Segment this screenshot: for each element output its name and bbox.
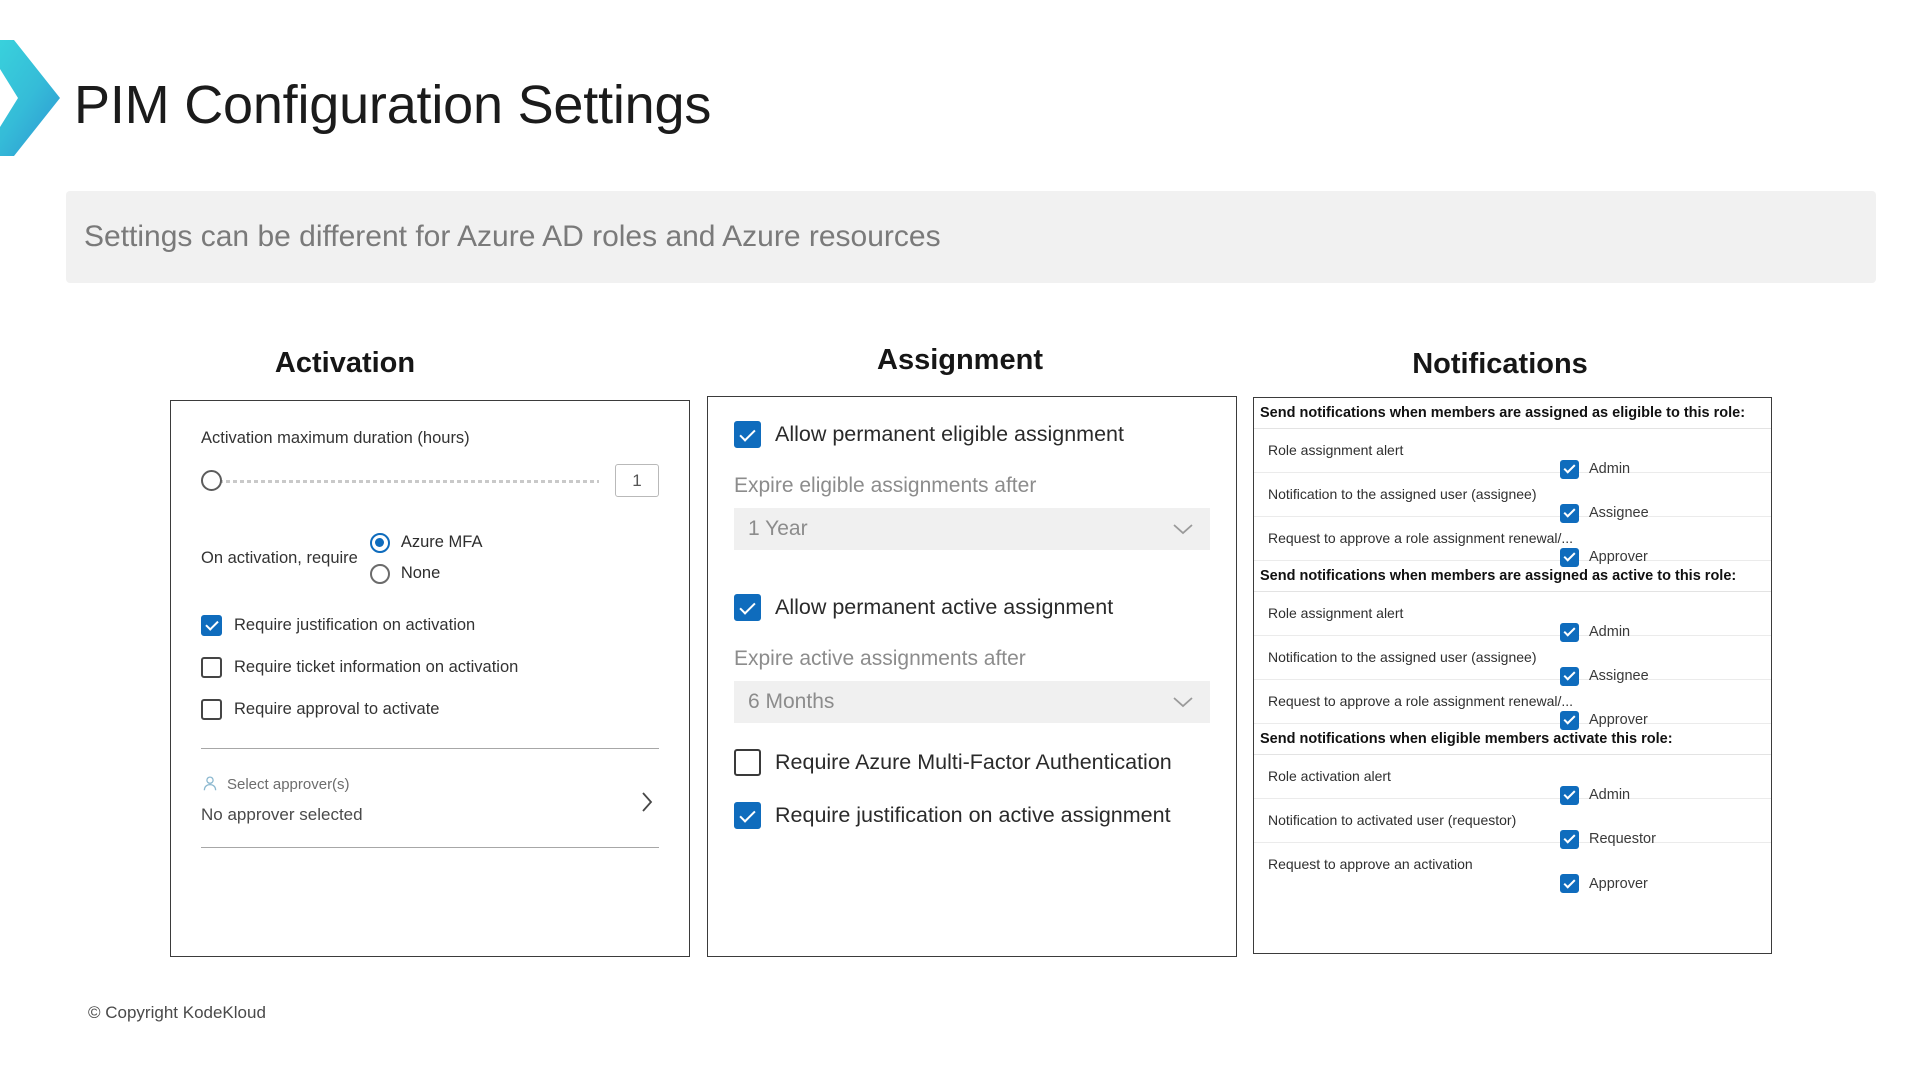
- select-approvers-link[interactable]: Select approver(s): [227, 776, 350, 793]
- footer-copyright: © Copyright KodeKloud: [88, 1003, 266, 1023]
- checkbox-label-allow-permanent-eligible: Allow permanent eligible assignment: [775, 422, 1124, 447]
- notification-row-label: Role activation alert: [1268, 768, 1391, 784]
- notifications-panel: Send notifications when members are assi…: [1253, 397, 1772, 954]
- checkbox-checked-icon[interactable]: [1560, 623, 1579, 642]
- notification-role-label: Approver: [1589, 876, 1648, 892]
- expire-eligible-dropdown[interactable]: 1 Year: [734, 508, 1210, 550]
- person-icon: [201, 775, 219, 793]
- notification-row[interactable]: Request to approve a role assignment ren…: [1254, 680, 1771, 724]
- expire-active-label: Expire active assignments after: [734, 647, 1210, 671]
- chevron-down-icon[interactable]: [1172, 696, 1194, 709]
- checkbox-unchecked-icon[interactable]: [734, 749, 761, 776]
- notification-row-label: Request to approve a role assignment ren…: [1268, 530, 1573, 546]
- checkbox-unchecked-icon[interactable]: [201, 699, 222, 720]
- expire-eligible-value: 1 Year: [748, 517, 808, 541]
- checkbox-unchecked-icon[interactable]: [201, 657, 222, 678]
- notification-role-label: Admin: [1589, 624, 1630, 640]
- notification-group-header: Send notifications when eligible members…: [1254, 724, 1771, 755]
- on-activation-require-group: On activation, require Azure MFA None: [201, 527, 659, 589]
- notification-row-label: Request to approve a role assignment ren…: [1268, 693, 1573, 709]
- notification-row[interactable]: Role assignment alert Admin: [1254, 592, 1771, 636]
- notification-role-label: Assignee: [1589, 668, 1649, 684]
- column-title-activation: Activation: [170, 347, 520, 380]
- notification-row-label: Notification to the assigned user (assig…: [1268, 486, 1536, 502]
- column-title-assignment: Assignment: [700, 344, 1220, 377]
- checkbox-checked-icon[interactable]: [1560, 786, 1579, 805]
- checkbox-label-require-approval: Require approval to activate: [234, 700, 439, 719]
- checkbox-checked-icon[interactable]: [1560, 504, 1579, 523]
- radio-none-icon[interactable]: [370, 564, 390, 584]
- notification-row-label: Request to approve an activation: [1268, 856, 1473, 872]
- notification-row[interactable]: Request to approve a role assignment ren…: [1254, 517, 1771, 561]
- notification-role-label: Admin: [1589, 787, 1630, 803]
- chevron-right-icon[interactable]: [639, 789, 655, 815]
- on-activation-require-label: On activation, require: [201, 549, 358, 568]
- chevron-down-icon[interactable]: [1172, 523, 1194, 536]
- checkbox-label-require-azure-mfa: Require Azure Multi-Factor Authenticatio…: [775, 750, 1172, 775]
- notification-row[interactable]: Notification to activated user (requesto…: [1254, 799, 1771, 843]
- activation-panel: Activation maximum duration (hours) 1 On…: [170, 400, 690, 957]
- assignment-panel: Allow permanent eligible assignment Expi…: [707, 396, 1237, 957]
- checkbox-checked-icon[interactable]: [1560, 874, 1579, 893]
- checkbox-checked-icon[interactable]: [1560, 711, 1579, 730]
- approver-status-text: No approver selected: [201, 805, 659, 825]
- checkbox-checked-icon[interactable]: [1560, 460, 1579, 479]
- activation-duration-slider-row: 1: [201, 464, 659, 497]
- page-title: PIM Configuration Settings: [74, 74, 711, 136]
- checkbox-checked-icon[interactable]: [734, 594, 761, 621]
- checkbox-require-justification-active[interactable]: Require justification on active assignme…: [734, 802, 1210, 829]
- radio-azure-mfa-icon[interactable]: [370, 533, 390, 553]
- checkbox-checked-icon[interactable]: [1560, 830, 1579, 849]
- checkbox-label-require-justification-active: Require justification on active assignme…: [775, 803, 1171, 828]
- approver-divider-bottom: [201, 847, 659, 848]
- notification-group-header: Send notifications when members are assi…: [1254, 561, 1771, 592]
- notification-row-label: Role assignment alert: [1268, 442, 1403, 458]
- radio-dot-icon: [375, 538, 384, 547]
- notification-row[interactable]: Notification to the assigned user (assig…: [1254, 473, 1771, 517]
- activation-duration-label: Activation maximum duration (hours): [201, 429, 659, 448]
- checkbox-allow-permanent-eligible[interactable]: Allow permanent eligible assignment: [734, 421, 1210, 448]
- approver-selector[interactable]: Select approver(s) No approver selected: [201, 775, 659, 825]
- duration-slider[interactable]: [201, 470, 603, 492]
- checkbox-label-allow-permanent-active: Allow permanent active assignment: [775, 595, 1113, 620]
- slide-root: PIM Configuration Settings Settings can …: [0, 0, 1920, 1080]
- expire-active-dropdown[interactable]: 6 Months: [734, 681, 1210, 723]
- notification-row[interactable]: Notification to the assigned user (assig…: [1254, 636, 1771, 680]
- checkbox-checked-icon[interactable]: [1560, 548, 1579, 567]
- notification-role-label: Admin: [1589, 461, 1630, 477]
- radio-option-azure-mfa[interactable]: Azure MFA: [370, 527, 483, 558]
- expire-eligible-label: Expire eligible assignments after: [734, 474, 1210, 498]
- checkbox-label-require-ticket-info: Require ticket information on activation: [234, 658, 518, 677]
- notification-group-header: Send notifications when members are assi…: [1254, 398, 1771, 429]
- checkbox-require-approval[interactable]: Require approval to activate: [201, 699, 659, 720]
- checkbox-require-ticket-info[interactable]: Require ticket information on activation: [201, 657, 659, 678]
- checkbox-checked-icon[interactable]: [734, 802, 761, 829]
- column-title-notifications: Notifications: [1290, 348, 1710, 381]
- notification-row-label: Role assignment alert: [1268, 605, 1403, 621]
- radio-option-none[interactable]: None: [370, 558, 483, 589]
- approver-divider-top: [201, 748, 659, 749]
- radio-label-none: None: [401, 564, 440, 583]
- slider-thumb[interactable]: [201, 470, 222, 491]
- notification-role-label: Approver: [1589, 712, 1648, 728]
- checkbox-checked-icon[interactable]: [734, 421, 761, 448]
- chevron-right-decorative-icon: [0, 38, 62, 158]
- checkbox-checked-icon[interactable]: [1560, 667, 1579, 686]
- slider-track-dots: [219, 480, 599, 483]
- notification-row[interactable]: Request to approve an activation Approve…: [1254, 843, 1771, 887]
- notification-row-label: Notification to activated user (requesto…: [1268, 812, 1516, 828]
- subtitle-banner: Settings can be different for Azure AD r…: [66, 191, 1876, 283]
- checkbox-label-require-justification-activation: Require justification on activation: [234, 616, 475, 635]
- notification-row-label: Notification to the assigned user (assig…: [1268, 649, 1536, 665]
- expire-active-value: 6 Months: [748, 690, 834, 714]
- notification-role-label: Assignee: [1589, 505, 1649, 521]
- subtitle-text: Settings can be different for Azure AD r…: [66, 220, 941, 254]
- checkbox-checked-icon[interactable]: [201, 615, 222, 636]
- checkbox-allow-permanent-active[interactable]: Allow permanent active assignment: [734, 594, 1210, 621]
- checkbox-require-justification-activation[interactable]: Require justification on activation: [201, 615, 659, 636]
- checkbox-require-azure-mfa[interactable]: Require Azure Multi-Factor Authenticatio…: [734, 749, 1210, 776]
- notification-row[interactable]: Role activation alert Admin: [1254, 755, 1771, 799]
- notification-row[interactable]: Role assignment alert Admin: [1254, 429, 1771, 473]
- duration-value-input[interactable]: 1: [615, 464, 659, 497]
- notification-role-label: Requestor: [1589, 831, 1656, 847]
- notification-role-label: Approver: [1589, 549, 1648, 565]
- radio-label-azure-mfa: Azure MFA: [401, 533, 483, 552]
